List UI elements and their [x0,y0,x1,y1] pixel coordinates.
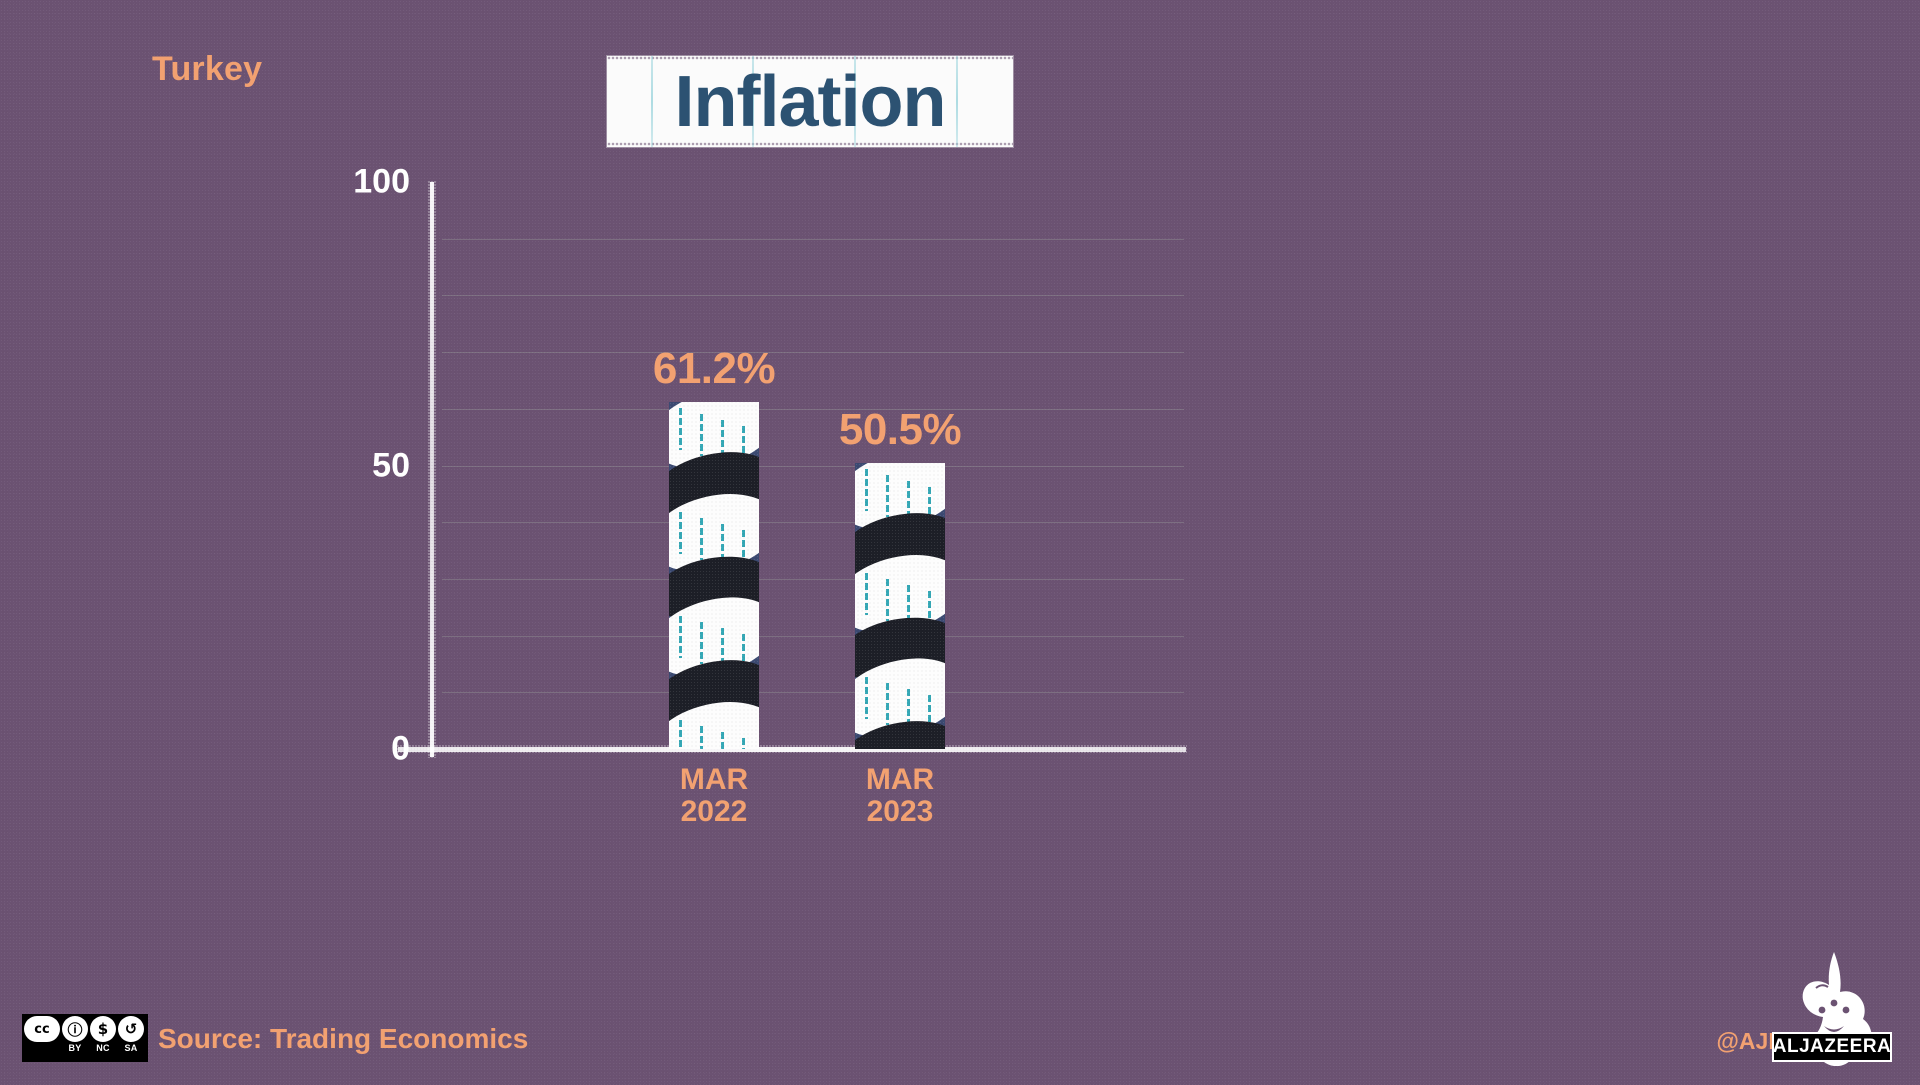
bar-texture-accent [700,518,703,560]
bar [669,402,759,749]
creative-commons-badge-icon: cc ⓘ $ ↺ BY NC SA [22,1014,148,1062]
gridline [442,352,1184,353]
country-label: Turkey [152,50,262,89]
cc-marks-captions: BY NC SA [24,1043,146,1053]
bar-texture-accent [886,579,889,621]
bar-texture-accent [700,622,703,664]
source-credit: Source: Trading Economics [158,1023,528,1055]
bar-texture-accent [700,414,703,456]
bar-texture-accent [865,677,868,719]
x-axis-category-label: MAR 2023 [866,764,934,828]
y-axis-tick-labels: 050100 [250,0,410,1085]
cc-nc-icon: $ [90,1016,116,1042]
cc-caption-nc: NC [90,1043,116,1053]
chart-title: Inflation [675,66,946,138]
gridline [442,409,1184,410]
bar-value-label: 50.5% [839,405,961,455]
aljazeera-wordmark: ALJAZEERA [1772,1032,1892,1062]
bar-texture-accent [700,726,703,749]
gridline [442,692,1184,693]
cc-by-icon: ⓘ [62,1016,88,1042]
cc-icon: cc [24,1016,60,1042]
y-axis-tick-label: 50 [372,446,410,485]
gridline [442,579,1184,580]
bar [855,463,945,749]
ruled-line-icon [651,56,653,147]
infographic-canvas: Turkey Inflation 050100 61.2%MAR 202250.… [0,0,1920,1085]
bar-texture-accent [886,475,889,517]
gridline [442,295,1184,296]
x-axis-category-label: MAR 2022 [680,764,748,828]
gridline [442,466,1184,467]
bar-texture-accent [865,573,868,615]
cc-marks-row: cc ⓘ $ ↺ [24,1016,146,1042]
ruled-line-icon [956,56,958,147]
cc-caption-sa: SA [118,1043,144,1053]
bar-texture-accent [679,616,682,658]
bar-texture-accent [679,512,682,554]
bar-texture-accent [886,683,889,725]
cc-caption-by: BY [62,1043,88,1053]
title-card: Inflation [607,56,1013,147]
bar-texture-accent [721,732,724,749]
cc-sa-icon: ↺ [118,1016,144,1042]
paper-edge-bottom-icon [607,142,1013,147]
bar-texture-accent [679,720,682,749]
plot-area: 61.2%MAR 202250.5%MAR 2023 [430,182,1185,749]
gridline [442,522,1184,523]
y-axis-tick-label: 100 [353,163,410,202]
bar-texture-accent [679,408,682,450]
bar-texture-accent [742,738,745,749]
gridline [442,636,1184,637]
paper-edge-top-icon [607,56,1013,61]
gridline [442,239,1184,240]
bar-texture-accent [865,469,868,511]
bar-value-label: 61.2% [653,344,775,394]
